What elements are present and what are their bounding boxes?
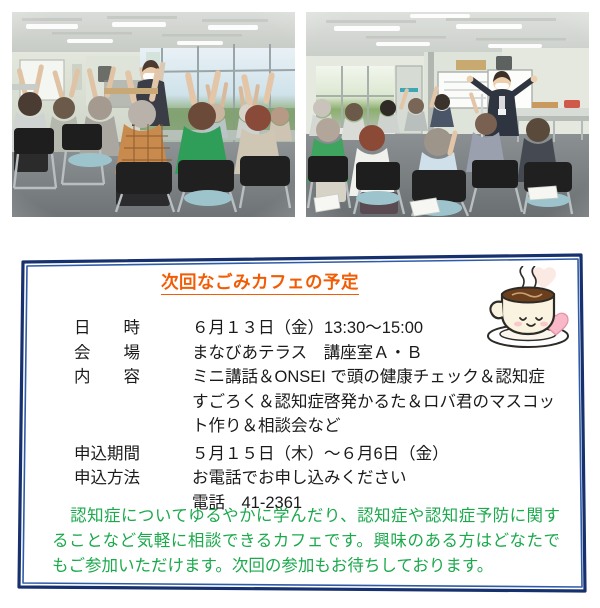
detail-value-content-line2: すごろく＆認知症啓発かるた＆ロバ君のマスコッ — [192, 390, 570, 415]
detail-value-content: ミニ講話＆ONSEI で頭の健康チェック＆認知症 — [192, 365, 570, 390]
detail-label-application-method: 申込方法 — [74, 466, 192, 491]
detail-row-content: 内 容 ミニ講話＆ONSEI で頭の健康チェック＆認知症 — [74, 365, 570, 390]
detail-value-venue: まなびあテラス 講座室Ａ・Ｂ — [192, 341, 570, 366]
detail-value-application-period: ５月１５日（木）～６月6日（金） — [192, 442, 570, 467]
detail-row-datetime: 日 時 ６月１３日（金）13:30～15:00 — [74, 316, 570, 341]
detail-label-content: 内 容 — [74, 365, 192, 390]
detail-label-venue: 会 場 — [74, 341, 192, 366]
detail-value-datetime: ６月１３日（金）13:30～15:00 — [192, 316, 570, 341]
event-info-panel: 次回なごみカフェの予定 — [14, 250, 590, 598]
detail-label-application-period: 申込期間 — [74, 442, 192, 467]
closing-paragraph: 認知症についてゆるやかに学んだり、認知症や認知症予防に関することなど気軽に相談で… — [52, 504, 560, 579]
detail-value-content-line3: ト作り＆相談会など — [192, 414, 570, 439]
detail-label-datetime: 日 時 — [74, 316, 192, 341]
detail-value-application-method: お電話でお申し込みください — [192, 466, 570, 491]
photo-exercise-class — [12, 12, 295, 217]
photo-lecture-room — [306, 12, 589, 217]
photo-strip — [0, 0, 600, 232]
detail-row-application-method: 申込方法 お電話でお申し込みください — [74, 466, 570, 491]
page-title: 次回なごみカフェの予定 — [161, 272, 359, 295]
event-detail-list: 日 時 ６月１３日（金）13:30～15:00 会 場 まなびあテラス 講座室Ａ… — [74, 316, 570, 515]
detail-row-application-period: 申込期間 ５月１５日（木）～６月6日（金） — [74, 442, 570, 467]
detail-row-venue: 会 場 まなびあテラス 講座室Ａ・Ｂ — [74, 341, 570, 366]
